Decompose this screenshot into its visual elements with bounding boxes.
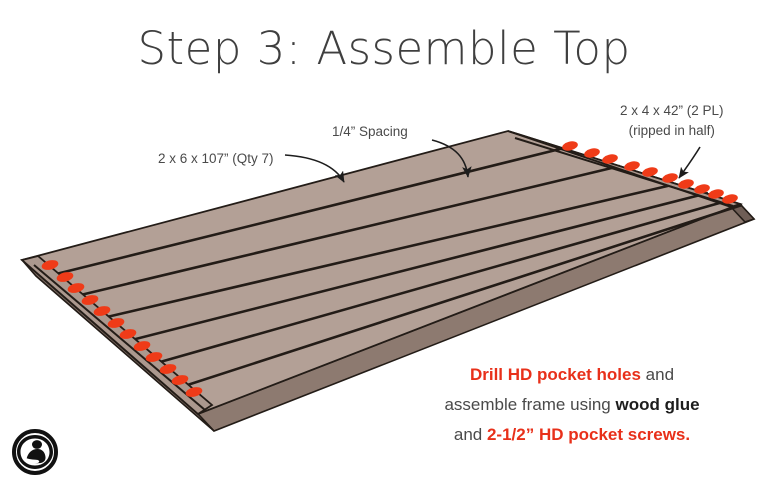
instruction-wood-glue-emphasis: wood glue [615,395,699,414]
callout-spacing: 1/4” Spacing [332,122,408,142]
leader-line-frame-spec [679,147,700,178]
craftsman-circle-logo [11,428,59,476]
instruction-drill-emphasis: Drill HD pocket holes [470,365,641,384]
logo-icon [11,428,59,476]
instruction-block: Drill HD pocket holes and assemble frame… [392,360,752,449]
instruction-line-1-plain: and [641,365,674,384]
instruction-screws-emphasis: 2-1/2” HD pocket screws. [487,425,690,444]
diagram-canvas: Step 3: Assemble Top [0,0,768,497]
instruction-line-1: Drill HD pocket holes and [392,360,752,390]
callout-board-spec: 2 x 6 x 107” (Qty 7) [158,149,274,169]
instruction-line-2-plain: assemble frame using [444,395,615,414]
instruction-line-3-plain: and [454,425,487,444]
callout-frame-spec-line1: 2 x 4 x 42” (2 PL) [620,101,724,121]
instruction-line-2: assemble frame using wood glue [392,390,752,420]
callout-frame-spec-line2: (ripped in half) [620,121,724,141]
instruction-line-3: and 2-1/2” HD pocket screws. [392,420,752,450]
callout-frame-spec: 2 x 4 x 42” (2 PL) (ripped in half) [620,101,724,140]
